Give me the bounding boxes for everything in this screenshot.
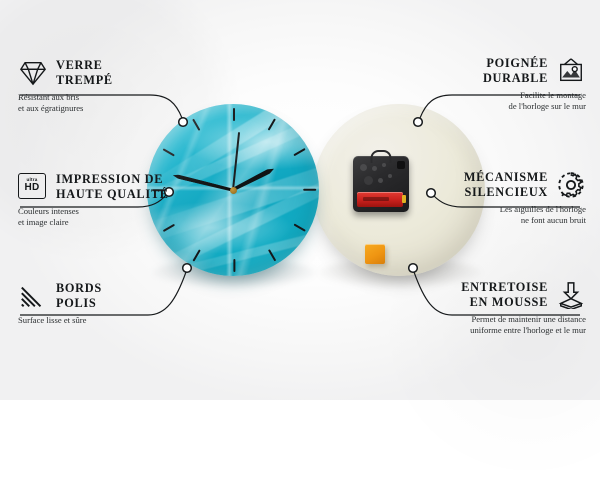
feature-heading: VERRE TREMPÉ: [18, 58, 198, 87]
desc-line: et image claire: [18, 217, 208, 228]
mechanism-screw: [397, 161, 405, 169]
feature-title-2: HAUTE QUALITÉ: [56, 187, 169, 202]
feature-title-2: SILENCIEUX: [464, 185, 548, 200]
feature-heading: POIGNÉE DURABLE: [396, 56, 586, 85]
hanging-picture-frame-icon: [556, 57, 586, 85]
desc-line: Résistant aux bris: [18, 92, 198, 103]
hands-center-cap: [230, 187, 237, 194]
gear-icon: [556, 171, 586, 199]
desc-line: ne font aucun bruit: [394, 215, 586, 226]
desc-line: de l'horloge sur le mur: [396, 101, 586, 112]
feature-poignee-durable[interactable]: POIGNÉE DURABLE Facilite le montage de l…: [396, 56, 586, 113]
feature-description: Résistant aux bris et aux égratignures: [18, 92, 198, 114]
feature-description: Facilite le montage de l'horloge sur le …: [396, 90, 586, 112]
desc-line: uniforme entre l'horloge et le mur: [384, 325, 586, 336]
diamond-icon: [18, 59, 48, 87]
feature-heading: BORDS POLIS: [18, 281, 198, 310]
feature-verre-trempe[interactable]: VERRE TREMPÉ Résistant aux bris et aux é…: [18, 58, 198, 115]
desc-line: Permet de maintenir une distance: [384, 314, 586, 325]
feature-title: VERRE: [56, 58, 113, 73]
feature-title-2: POLIS: [56, 296, 102, 311]
foam-spacer-arrow-icon: [556, 281, 586, 309]
feature-title-2: TREMPÉ: [56, 73, 113, 88]
feature-heading: MÉCANISME SILENCIEUX: [394, 170, 586, 199]
foam-spacer: [365, 244, 385, 264]
ultra-hd-badge-icon: ultra HD: [18, 173, 48, 201]
feature-description: Couleurs intenses et image claire: [18, 206, 208, 228]
desc-line: et aux égratignures: [18, 103, 198, 114]
battery-label: [363, 197, 389, 201]
feature-bords-polis[interactable]: BORDS POLIS Surface lisse et sûre: [18, 281, 198, 326]
feature-title: BORDS: [56, 281, 102, 296]
feature-title: POIGNÉE: [483, 56, 548, 71]
polished-edges-icon: [18, 282, 48, 310]
desc-line: Facilite le montage: [396, 90, 586, 101]
feature-title-2: DURABLE: [483, 71, 548, 86]
feature-heading: ENTRETOISE EN MOUSSE: [384, 280, 586, 309]
feature-entretoise-en-mousse[interactable]: ENTRETOISE EN MOUSSE Permet de maintenir…: [384, 280, 586, 337]
badge-bottom-text: HD: [24, 183, 39, 193]
infographic-canvas: VERRE TREMPÉ Résistant aux bris et aux é…: [0, 0, 600, 400]
feature-title: MÉCANISME: [464, 170, 548, 185]
desc-line: Couleurs intenses: [18, 206, 208, 217]
feature-description: Permet de maintenir une distance uniform…: [384, 314, 586, 336]
desc-line: Les aiguilles de l'horloge: [394, 204, 586, 215]
feature-title: IMPRESSION DE: [56, 172, 169, 187]
feature-title-2: EN MOUSSE: [461, 295, 548, 310]
feature-description: Les aiguilles de l'horloge ne font aucun…: [394, 204, 586, 226]
feature-impression-haute-qualite[interactable]: ultra HD IMPRESSION DE HAUTE QUALITÉ Cou…: [18, 172, 208, 229]
feature-description: Surface lisse et sûre: [18, 315, 198, 326]
feature-heading: ultra HD IMPRESSION DE HAUTE QUALITÉ: [18, 172, 208, 201]
feature-mecanisme-silencieux[interactable]: MÉCANISME SILENCIEUX Les aiguilles de l'…: [394, 170, 586, 227]
desc-line: Surface lisse et sûre: [18, 315, 198, 326]
feature-title: ENTRETOISE: [461, 280, 548, 295]
